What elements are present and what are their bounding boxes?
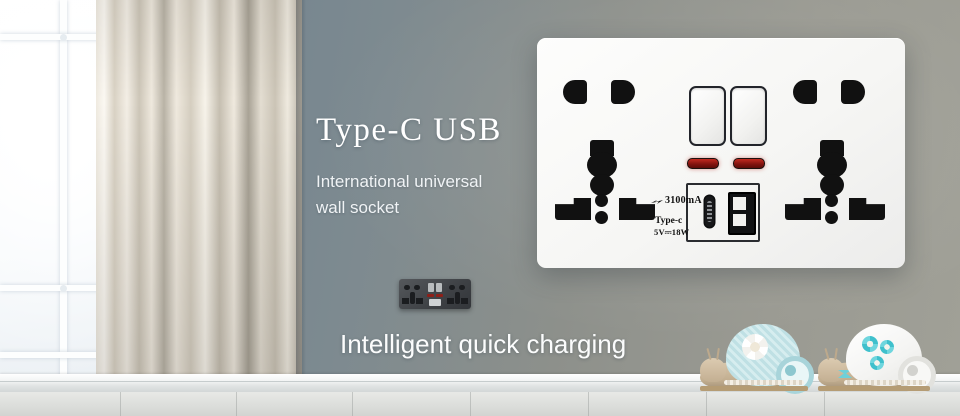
typec-label: Type-c — [655, 216, 682, 227]
mini-outlet-left-wing-icon — [416, 298, 423, 304]
snail-shell-spiral-inner-icon — [785, 365, 796, 376]
mini-switch-2 — [436, 283, 442, 292]
mini-switch-1 — [428, 283, 434, 292]
lightning-bolt-icon — [650, 197, 664, 209]
outlet-dot-lower-icon — [825, 211, 838, 224]
mini-indicator-1 — [427, 294, 434, 297]
mini-outlet-left-icon — [404, 285, 410, 290]
outlet-flat-pin-right-icon — [841, 80, 865, 104]
indicator-led-2 — [733, 158, 765, 169]
tagline: Intelligent quick charging — [340, 329, 626, 360]
snail-flower-icon — [870, 356, 884, 370]
mini-wall-socket[interactable] — [399, 279, 471, 309]
outlet-lower-bulb-icon — [820, 174, 844, 196]
snail-white — [818, 322, 954, 402]
snail-head — [700, 358, 726, 382]
outlet-wing-left-icon — [785, 198, 821, 220]
indicator-led-1 — [687, 158, 719, 169]
snail-flower-icon — [862, 336, 878, 352]
outlet-dot-lower-icon — [595, 211, 608, 224]
mini-outlet-right-icon — [449, 285, 455, 290]
mini-outlet-right-body-icon — [455, 292, 460, 304]
mini-outlet-right-wing-icon — [461, 298, 468, 304]
mini-usb-module — [429, 299, 441, 306]
outlet-left[interactable] — [555, 80, 663, 230]
mini-outlet-right-wing-icon — [447, 298, 454, 304]
window-mullion-vertical — [60, 0, 67, 390]
floor-tile-seam — [588, 392, 589, 416]
product-scene: Type-C USB International universal wall … — [0, 0, 960, 416]
snail-flower-icon — [742, 334, 768, 360]
outlet-flat-pin-left-icon — [563, 80, 587, 104]
mini-indicator-2 — [436, 294, 443, 297]
subtitle-line-1: International universal — [316, 168, 482, 195]
outlet-flat-pin-left-icon — [793, 80, 817, 104]
mini-outlet-left-body-icon — [410, 292, 415, 304]
outlet-wing-right-icon — [849, 198, 885, 220]
snail-antenna-icon — [716, 348, 720, 360]
outlet-dot-upper-icon — [825, 194, 838, 207]
rocker-switch-1[interactable] — [689, 86, 726, 146]
usb-a-port-tongue-icon — [733, 210, 746, 214]
window-mullion-node — [60, 285, 67, 292]
window-mullion-node — [60, 34, 67, 41]
mini-outlet-left-icon — [414, 285, 420, 290]
mini-outlet-right-icon — [459, 285, 465, 290]
snail-flower-icon — [880, 340, 894, 354]
mini-outlet-left-wing-icon — [402, 298, 409, 304]
floor-tile-seam — [236, 392, 237, 416]
page-title: Type-C USB — [316, 112, 502, 149]
outlet-right[interactable] — [785, 80, 893, 230]
subtitle-line-2: wall socket — [316, 194, 399, 221]
outlet-lower-bulb-icon — [590, 174, 614, 196]
snail-shell-spiral-inner-icon — [907, 365, 918, 376]
curtain-shading — [96, 0, 302, 400]
floor-tile-seam — [120, 392, 121, 416]
socket-panel: 3100mA Type-c 5V⎓18W — [537, 38, 905, 268]
rocker-switch-2[interactable] — [730, 86, 767, 146]
wall-corner-shadow — [296, 0, 306, 392]
type-c-port-contacts-icon — [707, 201, 712, 222]
usb-current-label: 3100mA — [665, 195, 702, 206]
snail-antenna-icon — [834, 348, 838, 360]
snail-blue — [700, 322, 830, 402]
snail-lace-trim — [724, 380, 804, 385]
floor-tile-seam — [470, 392, 471, 416]
outlet-wing-left-icon — [555, 198, 591, 220]
outlet-flat-pin-right-icon — [611, 80, 635, 104]
snail-base — [818, 386, 930, 391]
typec-voltage-label: 5V⎓18W — [654, 227, 689, 238]
outlet-dot-upper-icon — [595, 194, 608, 207]
snail-base — [700, 386, 808, 391]
snail-lace-trim — [844, 380, 926, 385]
floor-tile-seam — [352, 392, 353, 416]
